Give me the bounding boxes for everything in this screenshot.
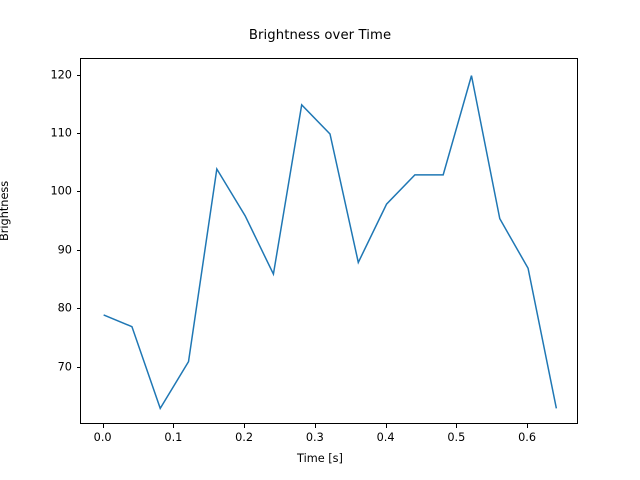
x-axis-label: Time [s] <box>0 452 640 465</box>
chart-title: Brightness over Time <box>0 28 640 43</box>
x-tick-label: 0.3 <box>306 431 324 444</box>
x-tick-label: 0.5 <box>447 431 465 444</box>
y-tick-label: 110 <box>30 127 72 140</box>
plot-area <box>80 58 578 424</box>
line-series-brightness <box>81 59 579 425</box>
x-tick-label: 0.4 <box>377 431 395 444</box>
y-tick-label: 80 <box>30 302 72 315</box>
x-tick-label: 0.1 <box>164 431 182 444</box>
x-tick-label: 0.0 <box>94 431 112 444</box>
chart-figure: Brightness over Time Brightness Time [s]… <box>0 0 640 480</box>
y-tick-label: 90 <box>30 243 72 256</box>
y-tick-label: 70 <box>30 360 72 373</box>
x-tick-label: 0.2 <box>235 431 253 444</box>
data-polyline <box>104 76 557 409</box>
y-axis-label: Brightness <box>0 181 11 241</box>
y-tick-label: 120 <box>30 68 72 81</box>
y-tick-label: 100 <box>30 185 72 198</box>
x-tick-label: 0.6 <box>518 431 536 444</box>
